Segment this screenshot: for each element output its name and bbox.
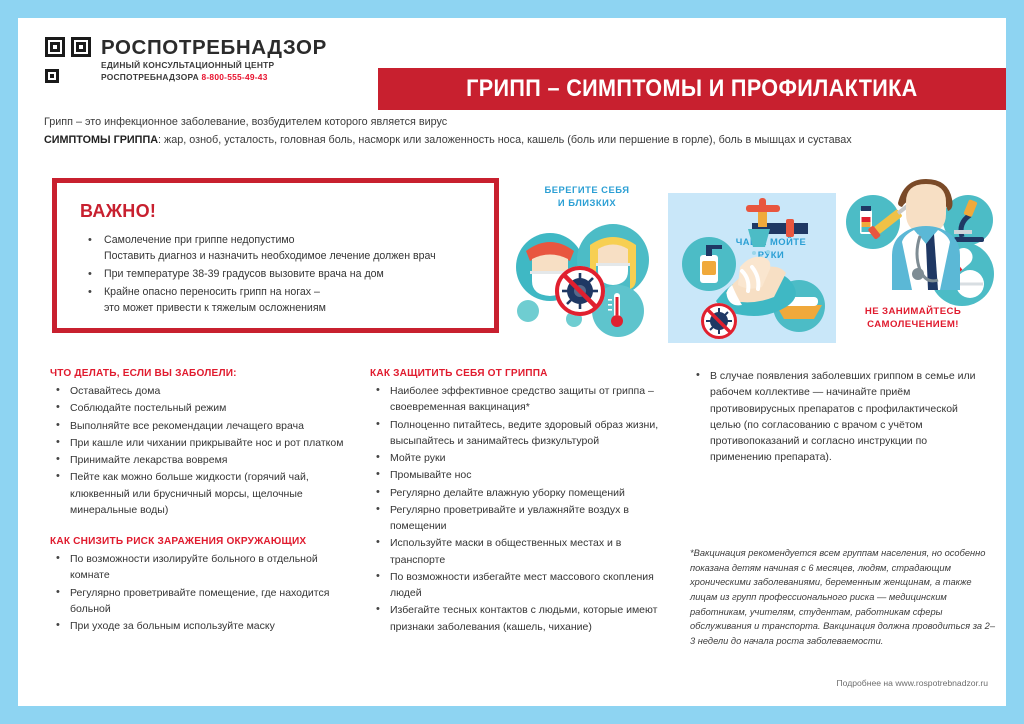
illustration-wash-hands: ЧАЩЕ МОЙТЕРУКИ <box>668 193 836 343</box>
illustration-protect-yourself: БЕРЕГИТЕ СЕБЯИ БЛИЗКИХ <box>514 168 660 343</box>
list-item: При уходе за больным используйте маску <box>50 618 350 634</box>
consult-center-line-1: ЕДИНЫЙ КОНСУЛЬТАЦИОННЫЙ ЦЕНТР <box>101 59 327 71</box>
qr-code-icon <box>44 36 92 84</box>
list-item: Принимайте лекарства вовремя <box>50 452 350 468</box>
vaccination-footnote: *Вакцинация рекомендуется всем группам н… <box>690 546 996 649</box>
qr-finder-bottom-left <box>45 69 59 83</box>
soap-dispenser-icon <box>682 237 736 291</box>
deco-circle-a <box>517 300 539 322</box>
list-item: Мойте руки <box>370 450 670 466</box>
more-info-link[interactable]: Подробнее на www.rospotrebnadzor.ru <box>836 678 988 688</box>
illustration-no-self-treatment: НЕ ЗАНИМАЙТЕСЬСАМОЛЕЧЕНИЕМ! <box>844 168 1004 343</box>
consult-center-line-2: РОСПОТРЕБНАДЗОРА 8-800-555-49-43 <box>101 71 327 83</box>
list-item: Соблюдайте постельный режим <box>50 400 350 416</box>
list-item: Полноценно питайтесь, ведите здоровый об… <box>370 417 670 450</box>
list-item: По возможности избегайте мест массового … <box>370 569 670 602</box>
intro-definition: Грипп – это инфекционное заболевание, во… <box>44 114 984 132</box>
section-list-1: По возможности изолируйте больного в отд… <box>50 551 350 634</box>
list-item: Избегайте тесных контактов с людьми, кот… <box>370 602 670 635</box>
no-virus-icon <box>701 303 737 339</box>
water-tap-icon <box>746 198 808 267</box>
column-left: ЧТО ДЕЛАТЬ, ЕСЛИ ВЫ ЗАБОЛЕЛИ: Оставайтес… <box>50 368 350 635</box>
title-banner: ГРИПП – СИМПТОМЫ И ПРОФИЛАКТИКА <box>378 68 1006 110</box>
intro-paragraph: Грипп – это инфекционное заболевание, во… <box>44 114 984 150</box>
list-item: В случае появления заболевших гриппом в … <box>690 368 990 466</box>
section-heading-2: КАК ЗАЩИТИТЬ СЕБЯ ОТ ГРИППА <box>370 368 661 379</box>
symptoms-label: СИМПТОМЫ ГРИППА <box>44 134 158 146</box>
doctor-illustration <box>844 170 1004 310</box>
symptoms-list: : жар, озноб, усталость, головная боль, … <box>158 134 852 146</box>
list-item: Регулярно проветривайте и увлажняйте воз… <box>370 502 670 535</box>
section-list-0: Оставайтесь домаСоблюдайте постельный ре… <box>50 383 350 518</box>
section-heading-1: КАК СНИЗИТЬ РИСК ЗАРАЖЕНИЯ ОКРУЖАЮЩИХ <box>50 536 341 547</box>
list-item: Промывайте нос <box>370 467 670 483</box>
column-right: В случае появления заболевших гриппом в … <box>690 368 990 467</box>
column-middle: КАК ЗАЩИТИТЬ СЕБЯ ОТ ГРИППА Наиболее эфф… <box>370 368 670 636</box>
poster-page: РОСПОТРЕБНАДЗОР ЕДИНЫЙ КОНСУЛЬТАЦИОННЫЙ … <box>18 18 1006 706</box>
list-item: Регулярно делайте влажную уборку помещен… <box>370 485 670 501</box>
doctor-icon <box>892 179 960 290</box>
list-item: Наиболее эффективное средство защиты от … <box>370 383 670 416</box>
list-item: Выполняйте все рекомендации лечащего вра… <box>50 418 350 434</box>
section-list-3: В случае появления заболевших гриппом в … <box>690 368 990 466</box>
illustration-caption-3: НЕ ЗАНИМАЙТЕСЬСАМОЛЕЧЕНИЕМ! <box>846 305 980 332</box>
hand-washing-illustration <box>668 193 836 343</box>
list-item: Оставайтесь дома <box>50 383 350 399</box>
masked-people-no-virus-illustration <box>514 215 660 340</box>
page-title: ГРИПП – СИМПТОМЫ И ПРОФИЛАКТИКА <box>466 75 918 103</box>
brand-name: РОСПОТРЕБНАДЗОР <box>101 37 327 59</box>
list-item: При кашле или чихании прикрывайте нос и … <box>50 435 350 451</box>
illustration-strip: БЕРЕГИТЕ СЕБЯИ БЛИЗКИХ <box>18 168 1006 343</box>
poster-header: РОСПОТРЕБНАДЗОР ЕДИНЫЙ КОНСУЛЬТАЦИОННЫЙ … <box>18 18 1006 92</box>
section-list-2: Наиболее эффективное средство защиты от … <box>370 383 670 635</box>
logo-text: РОСПОТРЕБНАДЗОР ЕДИНЫЙ КОНСУЛЬТАЦИОННЫЙ … <box>101 36 327 83</box>
section-heading-0: ЧТО ДЕЛАТЬ, ЕСЛИ ВЫ ЗАБОЛЕЛИ: <box>50 368 341 379</box>
intro-symptoms: СИМПТОМЫ ГРИППА: жар, озноб, усталость, … <box>44 132 984 150</box>
hotline-phone: 8-800-555-49-43 <box>201 72 267 82</box>
consult-center-org: РОСПОТРЕБНАДЗОРА <box>101 72 199 82</box>
list-item: Регулярно проветривайте помещение, где н… <box>50 585 350 618</box>
list-item: Пейте как можно больше жидкости (горячий… <box>50 469 350 518</box>
no-virus-icon <box>555 266 605 316</box>
logo-block: РОСПОТРЕБНАДЗОР ЕДИНЫЙ КОНСУЛЬТАЦИОННЫЙ … <box>44 36 327 84</box>
list-item: По возможности изолируйте больного в отд… <box>50 551 350 584</box>
list-item: Используйте маски в общественных местах … <box>370 535 670 568</box>
illustration-caption-1: БЕРЕГИТЕ СЕБЯИ БЛИЗКИХ <box>514 184 660 209</box>
